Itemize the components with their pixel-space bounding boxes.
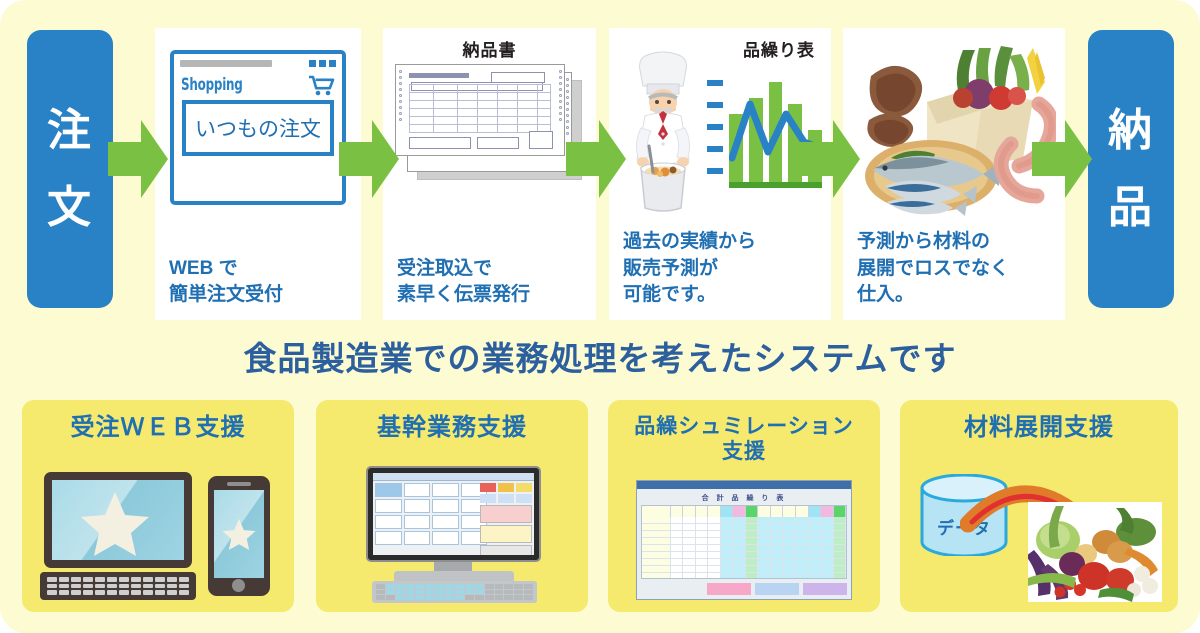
slip-doc-heading [409,73,469,78]
ingredients-illustration [851,46,1056,221]
tagline: 食品製造業での業務処理を考えたシステムです [0,332,1200,380]
feature-card-title: 基幹業務支援 [316,414,588,443]
browser-hero-banner[interactable]: いつもの注文 [182,100,334,156]
flow-arrow-5 [1032,120,1092,198]
simulation-window-illustration: 合 計 品 繰 り 表 [608,480,880,604]
shopping-cart-icon [308,75,335,96]
vegetables-photo [1028,502,1162,602]
smartphone-icon [208,476,270,596]
shopping-brand-label: Shopping [181,75,243,95]
panel-caption-chart: 過去の実績から 販売予測が 可能です。 [623,229,825,308]
flow-start-box: 注 文 [27,30,113,308]
chart-y-axis-ticks [707,80,723,180]
flow-panel-chart: 品繰り表 [609,28,831,320]
panel-caption-web: WEB で 簡単注文受付 [169,256,355,308]
flow-panel-web: Shopping いつもの注文 WEB で 簡単注文受付 [155,28,361,320]
feature-card-title: 材料展開支援 [900,414,1178,443]
flow-arrow-3 [566,120,626,198]
simulation-window: 合 計 品 繰 り 表 [636,480,852,600]
pos-terminal-illustration [316,466,588,604]
feature-card-material[interactable]: 材料展開支援 データ [900,400,1178,612]
flow-start-char-2: 文 [47,169,93,246]
delivery-slip-illustration [395,64,585,184]
star-icon [80,490,150,558]
sim-button[interactable] [755,583,799,595]
slip-sheet-front [395,64,565,156]
browser-header-row: Shopping [181,73,335,97]
chef-illustration [619,50,707,220]
feature-card-title: 品繰シュミレーション 支援 [608,414,880,464]
diagram-canvas: 注 文 Shopping いつもの注文 [0,0,1200,633]
laptop-and-phone-illustration [22,466,294,604]
flow-end-char-1: 納 [1108,92,1154,169]
hero-text: いつもの注文 [195,113,321,143]
meat-icon [867,66,922,147]
flow-arrow-2 [339,120,399,198]
panel-title-slip: 納品書 [383,36,596,61]
flow-start-char-1: 注 [47,92,93,169]
sim-button[interactable] [803,583,847,595]
browser-window-controls [309,60,336,67]
flow-end-box: 納 品 [1088,30,1174,308]
star-icon [222,518,256,551]
panel-caption-material: 予測から材料の 展開でロスでなく 仕入。 [857,229,1059,308]
flow-panel-slip: 納品書 [383,28,596,320]
feature-card-core[interactable]: 基幹業務支援 [316,400,588,612]
browser-toolbar [180,59,336,67]
data-to-ingredients-illustration: データ [900,466,1178,604]
flow-arrow-1 [108,120,168,198]
flow-end-char-2: 品 [1108,169,1154,246]
simulation-action-buttons[interactable] [641,583,847,595]
window-titlebar [637,481,851,489]
feature-card-simulation[interactable]: 品繰シュミレーション 支援 合 計 品 繰 り 表 [608,400,880,612]
feature-card-title: 受注ＷＥＢ支援 [22,414,294,443]
browser-url-bar [180,60,272,67]
browser-mockup: Shopping いつもの注文 [170,50,346,205]
simulation-window-title: 合 計 品 繰 り 表 [637,493,851,503]
sim-button[interactable] [707,583,751,595]
laptop-icon [44,472,192,600]
flow-arrow-4 [800,120,860,198]
pos-terminal-icon [366,466,541,601]
panel-caption-slip: 受注取込で 素早く伝票発行 [397,256,590,308]
slip-table-grid [409,84,551,132]
feature-card-web[interactable]: 受注ＷＥＢ支援 [22,400,294,612]
